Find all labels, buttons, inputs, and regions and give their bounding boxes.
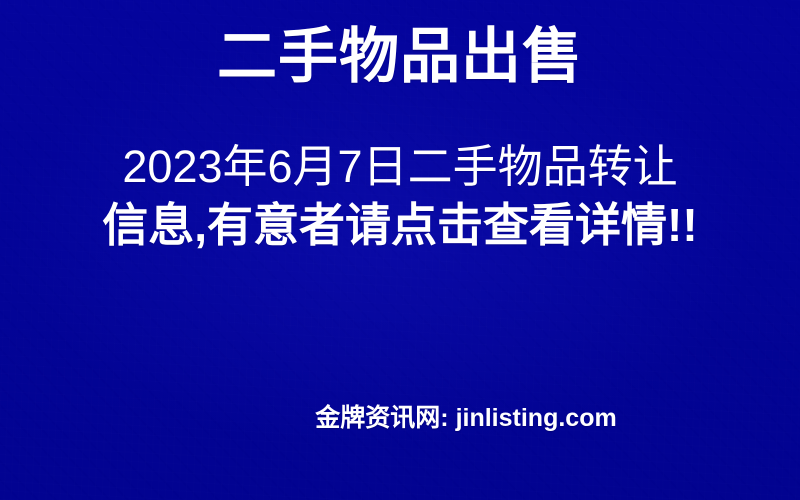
poster-content: 二手物品出售 2023年6月7日二手物品转让 信息,有意者请点击查看详情!! 金… [0, 0, 800, 500]
announcement-body: 2023年6月7日二手物品转让 信息,有意者请点击查看详情!! [0, 138, 800, 254]
poster-canvas: 二手物品出售 2023年6月7日二手物品转让 信息,有意者请点击查看详情!! 金… [0, 0, 800, 500]
site-credit: 金牌资讯网: jinlisting.com [0, 402, 800, 434]
announcement-line-1: 2023年6月7日二手物品转让 [0, 138, 800, 196]
page-title: 二手物品出售 [0, 22, 800, 92]
announcement-line-2: 信息,有意者请点击查看详情!! [0, 196, 800, 254]
